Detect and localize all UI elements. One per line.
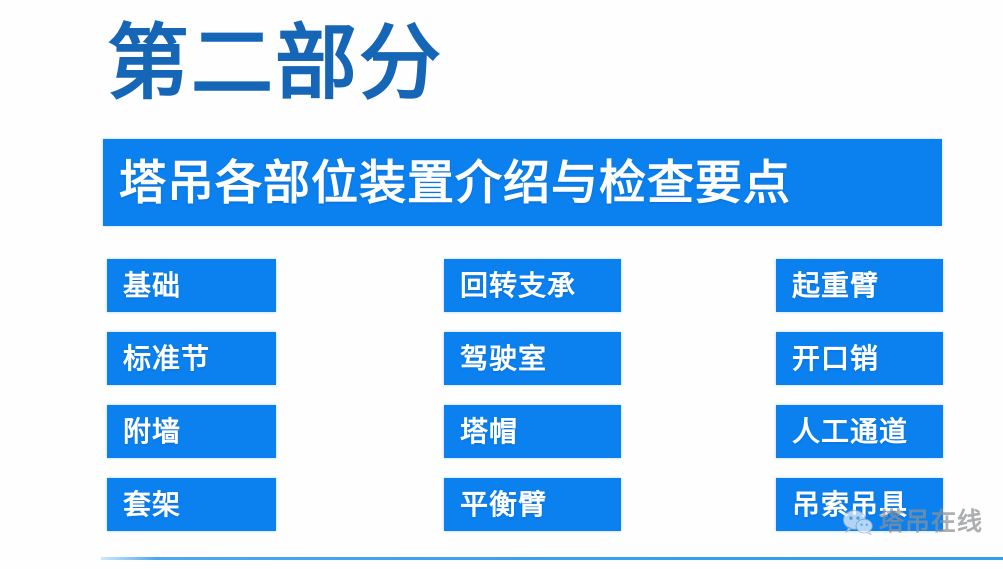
topic-chip-slewing-bearing[interactable]: 回转支承 bbox=[444, 259, 621, 312]
topic-chip-cotter-pin[interactable]: 开口销 bbox=[776, 332, 943, 385]
topic-chip-jib[interactable]: 起重臂 bbox=[776, 259, 943, 312]
topic-column-2: 回转支承 驾驶室 塔帽 平衡臂 bbox=[444, 259, 621, 551]
topic-chip-slings-and-rigging[interactable]: 吊索吊具 bbox=[776, 478, 943, 531]
topic-column-1: 基础 标准节 附墙 套架 bbox=[107, 259, 276, 551]
section-title-banner: 塔吊各部位装置介绍与检查要点 bbox=[103, 139, 942, 226]
topic-chip-label: 标准节 bbox=[123, 343, 210, 375]
topic-chip-wall-attachment[interactable]: 附墙 bbox=[107, 405, 276, 458]
topic-chip-label: 人工通道 bbox=[792, 416, 908, 448]
topic-chip-label: 起重臂 bbox=[792, 270, 879, 302]
topic-chip-label: 平衡臂 bbox=[460, 489, 547, 521]
topic-chip-tower-cap[interactable]: 塔帽 bbox=[444, 405, 621, 458]
topic-chip-label: 开口销 bbox=[792, 343, 879, 375]
topic-chip-label: 塔帽 bbox=[460, 416, 518, 448]
bottom-divider bbox=[101, 557, 1003, 560]
topic-chip-label: 基础 bbox=[123, 270, 181, 302]
presentation-slide: 第二部分 塔吊各部位装置介绍与检查要点 基础 标准节 附墙 套架 回转支承 驾驶… bbox=[0, 0, 1003, 569]
topic-chip-standard-section[interactable]: 标准节 bbox=[107, 332, 276, 385]
section-title-text: 塔吊各部位装置介绍与检查要点 bbox=[119, 156, 791, 210]
topic-chip-label: 附墙 bbox=[123, 416, 181, 448]
topic-chip-climbing-frame[interactable]: 套架 bbox=[107, 478, 276, 531]
topic-chip-manual-passage[interactable]: 人工通道 bbox=[776, 405, 943, 458]
topic-chip-counter-jib[interactable]: 平衡臂 bbox=[444, 478, 621, 531]
topic-chip-label: 回转支承 bbox=[460, 270, 576, 302]
topic-chip-label: 吊索吊具 bbox=[792, 489, 908, 521]
topic-chip-label: 驾驶室 bbox=[460, 343, 547, 375]
part-title: 第二部分 bbox=[107, 8, 443, 120]
topic-chip-operator-cab[interactable]: 驾驶室 bbox=[444, 332, 621, 385]
topic-column-3: 起重臂 开口销 人工通道 吊索吊具 bbox=[776, 259, 943, 551]
topic-chip-label: 套架 bbox=[123, 489, 181, 521]
topic-chip-foundation[interactable]: 基础 bbox=[107, 259, 276, 312]
